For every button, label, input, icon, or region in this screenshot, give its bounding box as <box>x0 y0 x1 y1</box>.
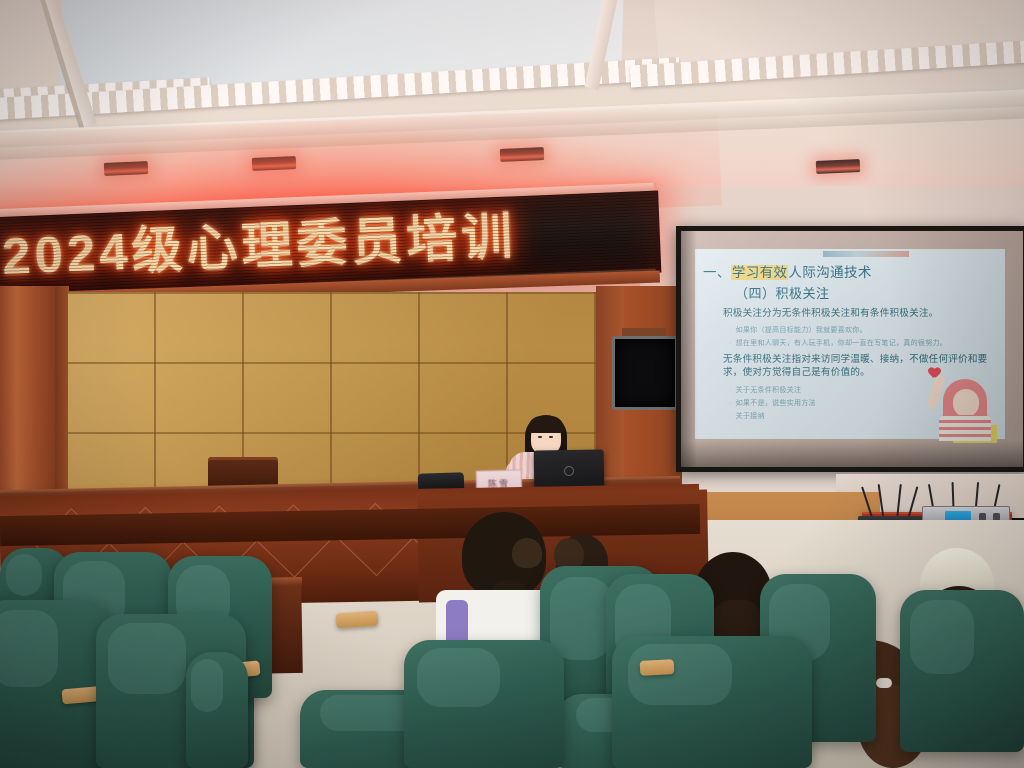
slide-paragraph-1: 积极关注分为无条件积极关注和有条件积极关注。 <box>723 307 999 320</box>
slide-bullet: 如果不是，说些实用方法 <box>729 398 816 408</box>
wood-column-left <box>0 286 58 508</box>
speaker-fringe <box>528 416 564 433</box>
wall-monitor <box>612 336 678 410</box>
hair-clip <box>876 678 892 688</box>
slide-bullet: 关于无条件积极关注 <box>729 385 801 395</box>
illustration-shirt <box>939 415 991 441</box>
auditorium-seat <box>404 640 564 768</box>
projection-screen: 一、学习有效人际沟通技术 （四）积极关注 积极关注分为无条件积极关注和有条件积极… <box>676 226 1024 472</box>
auditorium-seat <box>186 652 248 768</box>
seat-armrest <box>336 611 379 629</box>
speaker-laptop <box>534 449 605 490</box>
lecture-hall-photo: 2024级心理委员培训 一、学习有效人际沟通技术 （四）积极关注 积极关注分为无… <box>0 0 1024 768</box>
presentation-slide: 一、学习有效人际沟通技术 （四）积极关注 积极关注分为无条件积极关注和有条件积极… <box>695 249 1005 439</box>
slide-illustration-girl <box>927 367 1001 439</box>
seat-highlight <box>6 554 42 596</box>
slide-subheading: （四）积极关注 <box>735 283 830 302</box>
projection-surface: 一、学习有效人际沟通技术 （四）积极关注 积极关注分为无条件积极关注和有条件积极… <box>681 231 1023 467</box>
seat-highlight <box>910 600 974 675</box>
downlight-icon <box>104 161 149 176</box>
seat-highlight <box>550 577 612 660</box>
speaker-eye <box>538 436 542 438</box>
seat-highlight <box>191 659 223 712</box>
slide-bullet: 如果你（提高目标能力）我就要喜欢你。 <box>729 325 867 335</box>
seat-highlight <box>0 610 58 687</box>
auditorium-seat <box>612 636 812 768</box>
laptop-logo-icon <box>564 466 574 476</box>
downlight-icon <box>816 159 861 174</box>
wood-column-left-inner <box>55 286 69 508</box>
illustration-face <box>953 389 979 417</box>
slide-bullet: 关于接纳 <box>729 411 765 421</box>
ceiling <box>0 0 1024 196</box>
projection-edge-shadow-bottom <box>681 441 1023 467</box>
downlight-icon <box>500 147 545 162</box>
slide-heading-highlight: 学习有效 <box>731 265 789 280</box>
slide-bullet: 想在里和人聊天，有人玩手机，你却一直在写笔记，真的很努力。 <box>729 338 947 348</box>
auditorium-seat <box>0 600 110 768</box>
seat-highlight <box>417 648 500 707</box>
auditorium-seat <box>900 590 1024 752</box>
projection-edge-shadow-left <box>681 231 697 467</box>
slide-header-ribbon <box>823 251 909 257</box>
downlight-icon <box>252 156 297 171</box>
seat-highlight <box>108 623 186 694</box>
slide-heading: 一、学习有效人际沟通技术 <box>703 261 872 281</box>
seat-armrest <box>640 659 675 676</box>
audience-head <box>512 538 542 568</box>
speaker-eye <box>549 436 553 438</box>
